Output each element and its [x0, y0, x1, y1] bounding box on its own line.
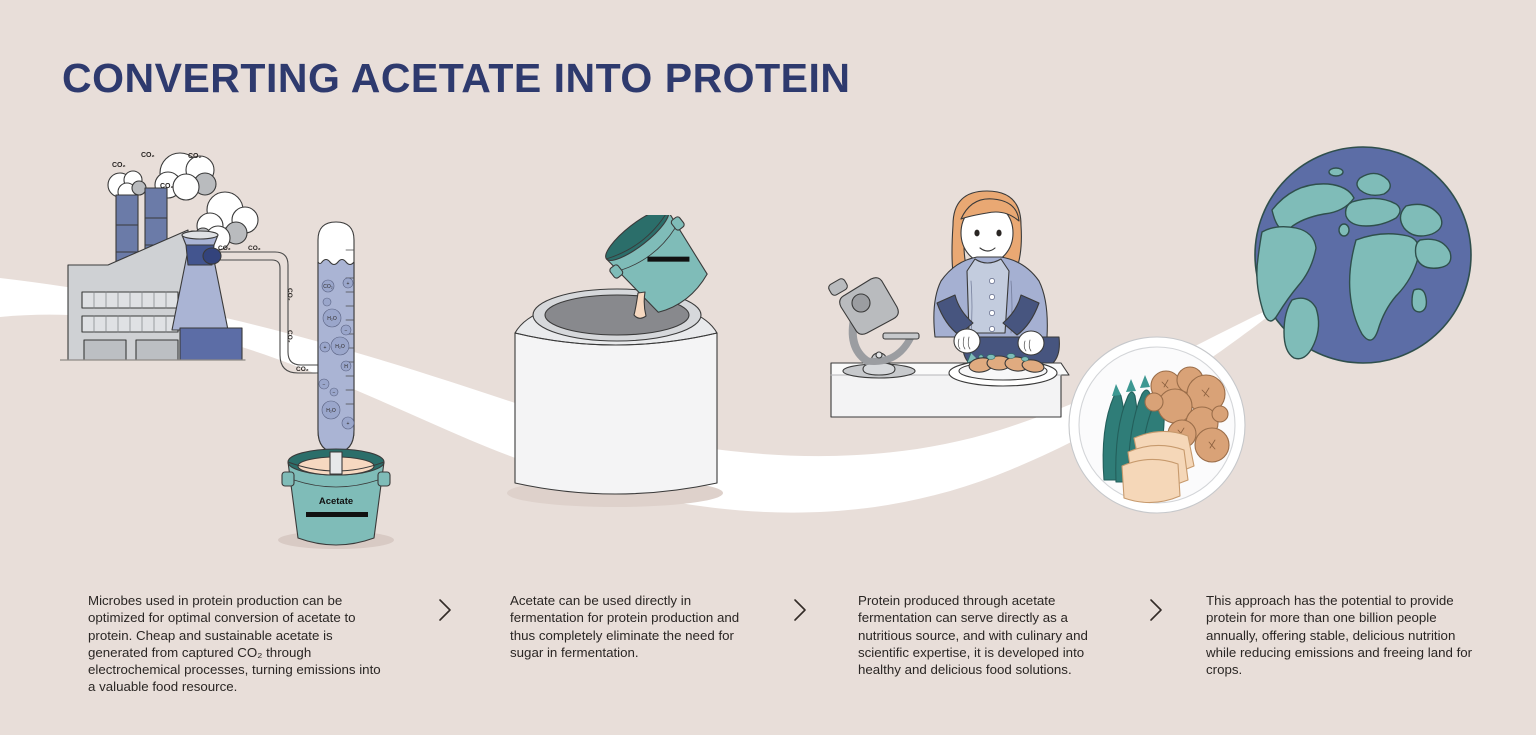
chevron-right-icon [436, 597, 454, 623]
illustration-stage: CO₂ CO₂ CO₂ CO₂ [0, 0, 1536, 600]
svg-text:−: − [333, 390, 336, 396]
globe-scene [1248, 140, 1478, 370]
captions-row: Microbes used in protein production can … [0, 592, 1536, 732]
co2-label: CO₂ [286, 288, 293, 301]
infographic-root: CONVERTING ACETATE INTO PROTEIN [0, 0, 1536, 735]
chef-figure [934, 191, 1060, 372]
electrolyzer-tube: CO₂ + H₂O − + H₂O H − − H₂O + [318, 222, 354, 488]
co2-label: CO₂ [218, 245, 231, 252]
caption-fermentation: Acetate can be used directly in fermenta… [510, 592, 750, 661]
co2-label: CO₂ [112, 162, 126, 169]
acetate-bucket: Acetate [278, 449, 394, 549]
svg-text:H₂O: H₂O [326, 408, 336, 414]
acetate-bucket-label: Acetate [319, 496, 353, 507]
co2-label: CO₂ [286, 330, 293, 343]
svg-text:H: H [344, 364, 348, 370]
svg-text:+: + [347, 281, 350, 287]
svg-text:−: − [323, 382, 326, 388]
chevron-right-icon [1147, 597, 1165, 623]
co2-label: CO₂ [141, 152, 155, 159]
svg-text:+: + [324, 345, 327, 351]
caption-impact: This approach has the potential to provi… [1206, 592, 1474, 678]
svg-text:H₂O: H₂O [327, 316, 337, 322]
svg-text:CO₂: CO₂ [323, 284, 333, 290]
factory-emissions-scene: CO₂ CO₂ CO₂ CO₂ [60, 140, 400, 560]
co2-label: CO₂ [248, 245, 261, 252]
co2-label: CO₂ [188, 153, 202, 160]
chevron-right-icon [791, 597, 809, 623]
fermentation-tank-scene [495, 215, 765, 515]
caption-culinary: Protein produced through acetate ferment… [858, 592, 1120, 678]
caption-microbes: Microbes used in protein production can … [88, 592, 388, 696]
chef-kitchen-scene [825, 185, 1095, 430]
co2-label: CO₂ [296, 366, 309, 373]
svg-text:H₂O: H₂O [335, 344, 345, 350]
food-plate-scene [1062, 330, 1252, 520]
svg-text:−: − [345, 328, 348, 334]
svg-text:+: + [347, 421, 350, 427]
